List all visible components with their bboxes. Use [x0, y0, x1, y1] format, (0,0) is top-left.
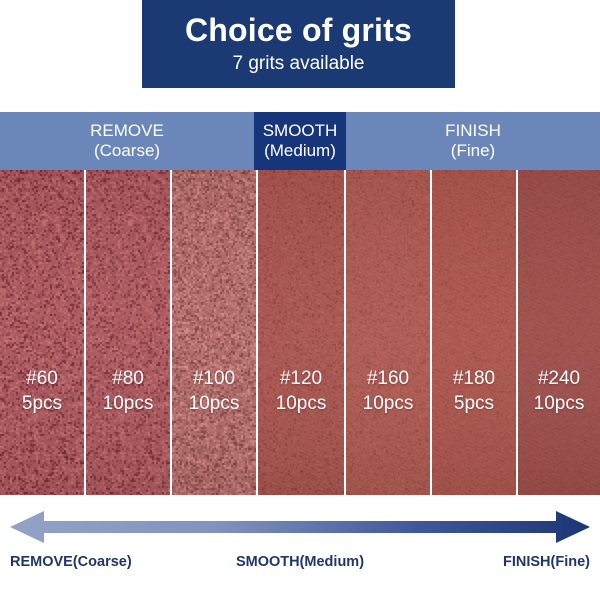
sandpaper-strip-row: #605pcs#8010pcs#10010pcs#12010pcs#16010p…	[0, 170, 600, 495]
sandpaper-strip: #1805pcs	[432, 170, 516, 495]
page-subtitle: 7 grits available	[232, 53, 364, 76]
sandpaper-strip: #12010pcs	[258, 170, 344, 495]
category-name-remove: REMOVE	[90, 121, 164, 141]
sandpaper-texture	[86, 170, 170, 495]
sandpaper-texture	[346, 170, 430, 495]
category-qualifier-finish: (Fine)	[451, 141, 495, 161]
sandpaper-strip: #10010pcs	[172, 170, 256, 495]
sandpaper-texture	[432, 170, 516, 495]
category-header-remove: REMOVE (Coarse)	[0, 112, 254, 170]
category-qualifier-smooth: (Medium)	[264, 141, 336, 161]
category-header-band: REMOVE (Coarse) SMOOTH (Medium) FINISH (…	[0, 112, 600, 170]
sandpaper-texture	[258, 170, 344, 495]
sandpaper-strip: #16010pcs	[346, 170, 430, 495]
title-banner: Choice of grits 7 grits available	[142, 0, 455, 88]
coarse-to-fine-arrow	[0, 503, 600, 551]
category-header-smooth: SMOOTH (Medium)	[254, 112, 346, 170]
category-qualifier-remove: (Coarse)	[94, 141, 160, 161]
category-header-finish: FINISH (Fine)	[346, 112, 600, 170]
sandpaper-texture	[0, 170, 84, 495]
category-name-smooth: SMOOTH	[263, 121, 338, 141]
sandpaper-strip: #24010pcs	[518, 170, 600, 495]
scale-label-finish: FINISH(Fine)	[0, 554, 590, 570]
sandpaper-strip: #605pcs	[0, 170, 84, 495]
page-title: Choice of grits	[185, 14, 412, 48]
sandpaper-texture	[518, 170, 600, 495]
sandpaper-strip: #8010pcs	[86, 170, 170, 495]
category-name-finish: FINISH	[445, 121, 501, 141]
sandpaper-texture	[172, 170, 256, 495]
